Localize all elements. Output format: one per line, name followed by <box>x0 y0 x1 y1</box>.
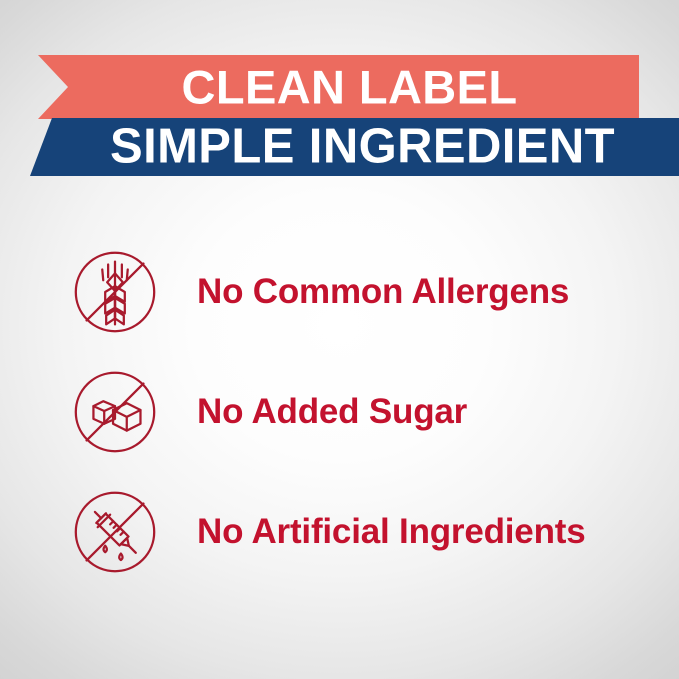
infographic-canvas: CLEAN LABEL SIMPLE INGREDIENT <box>0 0 679 679</box>
banner-title-line1: CLEAN LABEL <box>38 64 639 111</box>
banner-blue-band: SIMPLE INGREDIENT <box>30 118 679 176</box>
feature-label: No Added Sugar <box>197 392 467 432</box>
feature-row: No Artificial Ingredients <box>0 472 679 592</box>
no-wheat-allergen-icon <box>66 243 164 341</box>
no-syringe-artificial-icon <box>66 483 164 581</box>
banner: CLEAN LABEL SIMPLE INGREDIENT <box>0 55 679 180</box>
feature-label: No Artificial Ingredients <box>197 512 585 552</box>
banner-red-band: CLEAN LABEL <box>38 55 639 119</box>
no-sugar-cubes-icon <box>66 363 164 461</box>
banner-title-line2: SIMPLE INGREDIENT <box>30 123 679 172</box>
feature-label: No Common Allergens <box>197 272 569 312</box>
feature-row: No Common Allergens <box>0 232 679 352</box>
feature-list: No Common Allergens No Added Sugar <box>0 232 679 592</box>
feature-row: No Added Sugar <box>0 352 679 472</box>
